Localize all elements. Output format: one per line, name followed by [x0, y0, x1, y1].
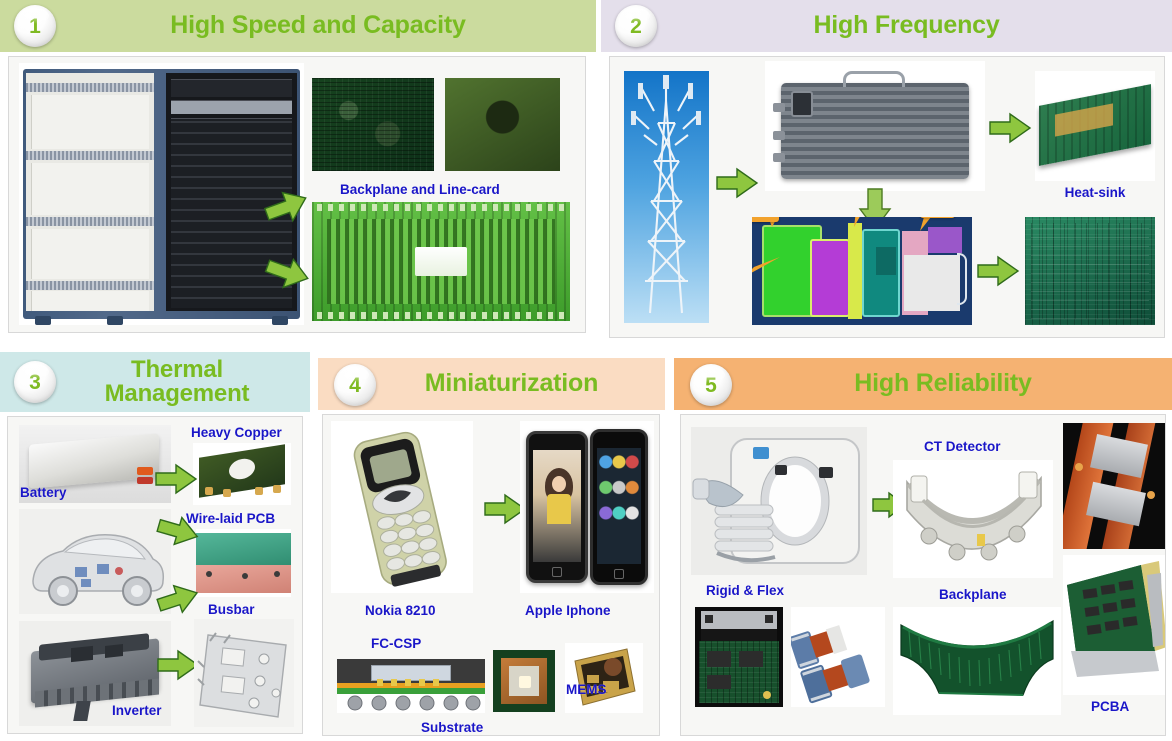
panel-3-number-badge: 3 [14, 361, 56, 403]
label-inverter: Inverter [112, 703, 162, 718]
label-fc-csp: FC-CSP [371, 636, 421, 651]
label-battery: Battery [20, 485, 67, 500]
image-line-card-pcb-module [445, 78, 560, 171]
image-wire-laid-pcb [196, 529, 291, 597]
label-rigid-and-flex: Rigid & Flex [706, 583, 784, 598]
image-flex-connector-pair [791, 607, 885, 707]
panel-5-title: High Reliability [674, 371, 1172, 397]
panel-2-header: 2 High Frequency [601, 0, 1172, 52]
label-heavy-copper: Heavy Copper [191, 425, 282, 440]
image-ct-detector-ring [893, 460, 1053, 578]
panel-1-number-badge: 1 [14, 5, 56, 47]
image-rf-module-exploded-view: PA DC TR FL [752, 217, 972, 325]
panel-3-title-line-1: Thermal [131, 356, 223, 383]
label-substrate: Substrate [421, 720, 483, 735]
panel-1-title: High Speed and Capacity [0, 13, 596, 39]
label-ct-detector: CT Detector [924, 439, 1001, 454]
label-backplane-and-line-card: Backplane and Line-card [340, 182, 500, 197]
panel-miniaturization: 4 Miniaturization [318, 358, 665, 741]
image-electric-vehicle-cutaway [19, 509, 171, 614]
image-rf-pcb-array [1025, 217, 1155, 325]
panel-2-body: Heat-sink PA DC TR FL [609, 56, 1165, 338]
tag-pa: PA [752, 217, 779, 222]
image-mems-device [565, 643, 643, 713]
label-nokia-8210: Nokia 8210 [365, 603, 436, 618]
image-pcba-card [1063, 555, 1166, 695]
panel-2-number-badge: 2 [615, 5, 657, 47]
image-backplane-green-pcb [312, 202, 570, 321]
label-heat-sink: Heat-sink [1035, 185, 1155, 200]
image-apple-iphone-pair [520, 421, 654, 593]
panel-1-header: 1 High Speed and Capacity [0, 0, 596, 52]
arrow-car-to-wire-laid-pcb [156, 515, 200, 547]
panel-4-body: Nokia 8210 Apple Iphone FC-CSP Substra [322, 414, 660, 736]
panel-1-body: Backplane and Line-card [8, 56, 586, 333]
panel-thermal-management: 3 Thermal Management Battery Heavy Coppe… [0, 352, 310, 741]
image-heat-sink-pcb [1035, 71, 1155, 181]
panel-5-number-badge: 5 [690, 364, 732, 406]
arrow-tower-to-rru [715, 167, 759, 199]
panel-3-body: Battery Heavy Copper [7, 416, 303, 734]
image-cell-tower [624, 71, 709, 323]
arrow-rack-to-backplane [264, 257, 310, 291]
arrow-rack-to-linecard [264, 191, 310, 225]
image-nokia-8210-phone [331, 421, 473, 593]
image-curved-backplane [893, 607, 1061, 715]
image-telecom-rack-cabinet [19, 63, 304, 325]
panel-4-header: 4 Miniaturization [318, 358, 665, 410]
panel-3-title-line-2: Management [105, 380, 250, 407]
label-busbar: Busbar [208, 602, 255, 617]
panel-high-frequency: 2 High Frequency [601, 0, 1172, 345]
panel-5-body: CT Detector [680, 414, 1166, 736]
label-mems: MEMS [566, 682, 607, 697]
arrow-rru-to-heat-sink [988, 112, 1032, 144]
label-apple-iphone: Apple Iphone [525, 603, 611, 618]
panel-high-reliability: 5 High Reliability [674, 358, 1172, 741]
label-backplane: Backplane [939, 587, 1007, 602]
image-line-card-pcb-dark [312, 78, 434, 171]
image-flex-cable-closeup [1063, 423, 1166, 549]
image-busbar-plate [194, 619, 294, 727]
image-rigid-flex-board [695, 607, 783, 707]
panel-5-header: 5 High Reliability [674, 358, 1172, 410]
label-pcba: PCBA [1091, 699, 1129, 714]
image-heavy-copper-pcb [193, 443, 291, 505]
tag-tr: TR [920, 217, 955, 218]
image-ct-scanner [691, 427, 867, 575]
panel-4-number-badge: 4 [334, 364, 376, 406]
image-flip-chip-package [493, 650, 555, 712]
panel-high-speed-and-capacity: 1 High Speed and Capacity [0, 0, 596, 340]
image-rru-remote-radio-unit [765, 61, 985, 191]
arrow-module-to-rf-pcb [976, 255, 1020, 287]
arrow-car-to-busbar [156, 583, 200, 615]
panel-2-title: High Frequency [601, 13, 1172, 39]
panel-3-header: 3 Thermal Management [0, 352, 310, 412]
image-fc-csp-cross-section [337, 659, 485, 713]
arrow-battery-to-heavy-copper [154, 463, 198, 495]
